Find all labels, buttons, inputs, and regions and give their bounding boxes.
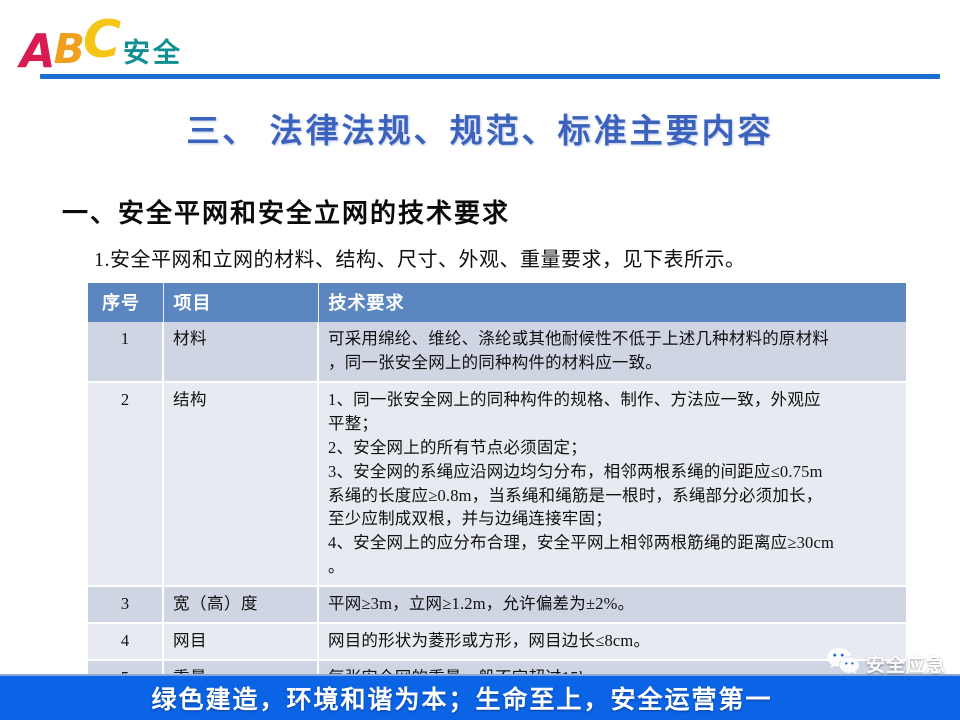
cell-sequence-number: 2 (88, 382, 163, 586)
brand-logo: A B C 安全 (20, 14, 183, 72)
requirement-line: 。 (328, 555, 897, 579)
specification-table: 序号 项目 技术要求 1材料可采用绵纶、维纶、涤纶或其他耐候性不低于上述几种材料… (88, 283, 906, 698)
column-header-item: 项目 (163, 283, 318, 322)
table-body: 1材料可采用绵纶、维纶、涤纶或其他耐候性不低于上述几种材料的原材料，同一张安全网… (88, 322, 906, 697)
footer-slogan: 绿色建造，环境和谐为本；生命至上，安全运营第一 (151, 680, 772, 716)
cell-item-name: 材料 (163, 322, 318, 382)
watermark-label: 安全应急 (866, 650, 946, 677)
watermark: 安全应急 (826, 647, 946, 680)
requirement-line: 平整； (328, 412, 897, 436)
page-title: 三、 法律法规、规范、标准主要内容 (0, 104, 960, 152)
cell-sequence-number: 1 (88, 322, 163, 382)
logo-letter-a: A (20, 31, 54, 72)
table-row: 3宽（高）度平网≥3m，立网≥1.2m，允许偏差为±2%。 (88, 586, 906, 623)
requirement-line: ，同一张安全网上的同种构件的材料应一致。 (328, 351, 897, 375)
column-header-requirement: 技术要求 (318, 283, 906, 322)
cell-requirement: 可采用绵纶、维纶、涤纶或其他耐候性不低于上述几种材料的原材料，同一张安全网上的同… (318, 322, 906, 382)
requirement-line: 4、安全网上的应分布合理，安全平网上相邻两根筋绳的距离应≥30cm (328, 531, 897, 555)
footer-banner: 绿色建造，环境和谐为本；生命至上，安全运营第一 (0, 674, 960, 720)
column-header-no: 序号 (88, 283, 163, 322)
slide-canvas: A B C 安全 三、 法律法规、规范、标准主要内容 一、安全平网和安全立网的技… (0, 0, 960, 720)
cell-item-name: 宽（高）度 (163, 586, 318, 623)
requirement-line: 可采用绵纶、维纶、涤纶或其他耐候性不低于上述几种材料的原材料 (328, 327, 897, 351)
cell-sequence-number: 4 (88, 623, 163, 660)
table-row: 1材料可采用绵纶、维纶、涤纶或其他耐候性不低于上述几种材料的原材料，同一张安全网… (88, 322, 906, 382)
lead-paragraph: 1.安全平网和立网的材料、结构、尺寸、外观、重量要求，见下表所示。 (94, 243, 746, 272)
table-row: 2结构1、同一张安全网上的同种构件的规格、制作、方法应一致，外观应平整；2、安全… (88, 382, 906, 586)
table-row: 4网目网目的形状为菱形或方形，网目边长≤8cm。 (88, 623, 906, 660)
requirement-line: 1、同一张安全网上的同种构件的规格、制作、方法应一致，外观应 (328, 388, 897, 412)
section-heading: 一、安全平网和安全立网的技术要求 (62, 193, 510, 230)
wechat-icon (826, 647, 860, 680)
logo-chinese-text: 安全 (123, 31, 183, 70)
header-divider-rule (40, 74, 940, 79)
cell-item-name: 网目 (163, 623, 318, 660)
table-header-row: 序号 项目 技术要求 (88, 283, 906, 322)
cell-requirement: 网目的形状为菱形或方形，网目边长≤8cm。 (318, 623, 906, 660)
logo-letter-c: C (83, 17, 120, 64)
requirement-line: 网目的形状为菱形或方形，网目边长≤8cm。 (328, 629, 897, 653)
requirement-line: 系绳的长度应≥0.8m，当系绳和绳筋是一根时，系绳部分必须加长， (328, 484, 897, 508)
table-header: 序号 项目 技术要求 (88, 283, 906, 322)
requirement-line: 3、安全网的系绳应沿网边均匀分布，相邻两根系绳的间距应≤0.75m (328, 460, 897, 484)
cell-item-name: 结构 (163, 382, 318, 586)
cell-requirement: 1、同一张安全网上的同种构件的规格、制作、方法应一致，外观应平整；2、安全网上的… (318, 382, 906, 586)
cell-sequence-number: 3 (88, 586, 163, 623)
requirement-line: 平网≥3m，立网≥1.2m，允许偏差为±2%。 (328, 592, 897, 616)
cell-requirement: 平网≥3m，立网≥1.2m，允许偏差为±2%。 (318, 586, 906, 623)
requirement-line: 至少应制成双根，并与边绳连接牢固； (328, 507, 897, 531)
requirement-line: 2、安全网上的所有节点必须固定； (328, 436, 897, 460)
logo-letter-b: B (54, 31, 83, 68)
